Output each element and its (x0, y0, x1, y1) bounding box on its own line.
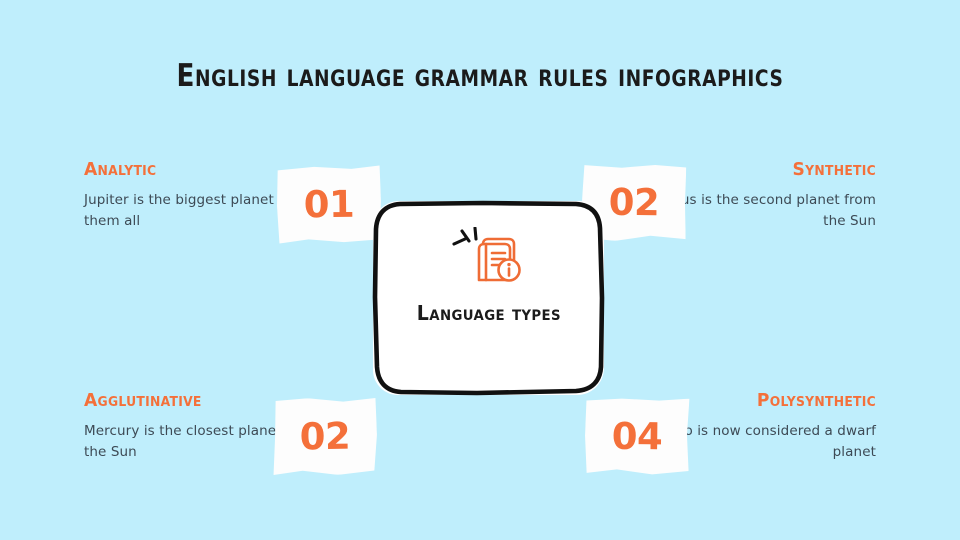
center-card-content: Language types (373, 201, 604, 395)
number-card-03: 02 (272, 397, 377, 475)
number-card-01: 01 (277, 165, 382, 243)
infographic-slide: English language grammar rules infograph… (0, 0, 960, 540)
item-heading-analytic: Analytic (84, 160, 304, 180)
item-heading-agglutinative: Agglutinative (84, 391, 304, 411)
number-card-04: 04 (585, 397, 690, 475)
page-title: English language grammar rules infograph… (29, 58, 931, 94)
number-label-04: 04 (612, 418, 663, 456)
center-card-label: Language types (416, 301, 560, 325)
center-card: Language types (373, 201, 604, 395)
number-label-02: 02 (609, 184, 660, 221)
number-label-01: 01 (304, 186, 355, 224)
book-info-icon (452, 227, 526, 287)
item-heading-synthetic: Synthetic (656, 160, 876, 180)
number-label-03: 02 (299, 418, 350, 456)
